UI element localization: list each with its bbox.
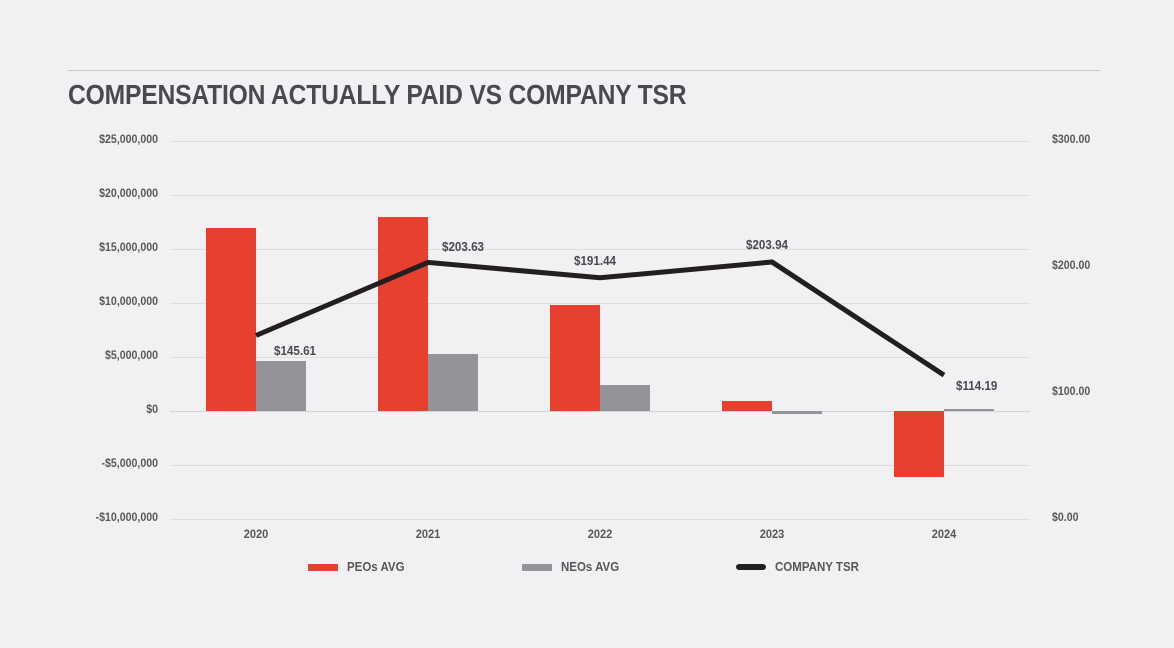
tsr-value-label: $203.94 xyxy=(746,238,788,252)
title-divider xyxy=(68,70,1100,71)
x-axis-tick-label: 2024 xyxy=(889,527,999,541)
gridline xyxy=(170,519,1030,520)
bar-peo-2020 xyxy=(206,228,256,411)
gridline xyxy=(170,303,1030,304)
y-axis-tick-label: $0 xyxy=(57,404,158,416)
bar-neo-2021 xyxy=(428,354,478,411)
gridline xyxy=(170,249,1030,250)
legend-line-icon xyxy=(736,564,766,570)
x-axis-tick-label: 2020 xyxy=(201,527,311,541)
legend-label: NEOs AVG xyxy=(561,560,619,574)
y-axis-tick-label: $25,000,000 xyxy=(57,134,158,146)
bar-neo-2020 xyxy=(256,361,306,411)
bar-peo-2021 xyxy=(378,217,428,411)
bar-peo-2024 xyxy=(894,411,944,477)
legend-item-0[interactable]: PEOs AVG xyxy=(308,560,410,574)
gridline xyxy=(170,141,1030,142)
y-axis-tick-label: $10,000,000 xyxy=(57,296,158,308)
bar-neo-2022 xyxy=(600,385,650,411)
y-axis-tick-label: $20,000,000 xyxy=(57,188,158,200)
bar-peo-2023 xyxy=(722,401,772,411)
legend-label: COMPANY TSR xyxy=(775,560,859,574)
tsr-value-label: $145.61 xyxy=(274,344,316,358)
y-axis-tick-label: -$10,000,000 xyxy=(57,512,158,524)
tsr-value-label: $203.63 xyxy=(442,240,484,254)
tsr-value-label: $114.19 xyxy=(956,379,997,393)
y2-axis-tick-label: $0.00 xyxy=(1052,512,1078,524)
legend-item-2[interactable]: COMPANY TSR xyxy=(736,560,866,574)
x-axis-tick-label: 2023 xyxy=(717,527,827,541)
legend-color-icon xyxy=(522,564,552,571)
y2-axis-tick-label: $300.00 xyxy=(1052,134,1090,146)
bar-neo-2023 xyxy=(772,411,822,414)
bar-peo-2022 xyxy=(550,305,600,411)
y2-axis-tick-label: $200.00 xyxy=(1052,260,1090,272)
legend: PEOs AVGNEOs AVGCOMPANY TSR xyxy=(0,560,1174,574)
legend-label: PEOs AVG xyxy=(347,560,405,574)
legend-color-icon xyxy=(308,564,338,571)
y2-axis-tick-label: $100.00 xyxy=(1052,386,1090,398)
tsr-value-label: $191.44 xyxy=(574,254,616,268)
x-axis-tick-label: 2021 xyxy=(373,527,483,541)
y-axis-tick-label: -$5,000,000 xyxy=(57,458,158,470)
bar-neo-2024 xyxy=(944,409,994,411)
chart-page: COMPENSATION ACTUALLY PAID VS COMPANY TS… xyxy=(0,0,1174,648)
x-axis-tick-label: 2022 xyxy=(545,527,655,541)
legend-item-1[interactable]: NEOs AVG xyxy=(522,560,624,574)
y-axis-tick-label: $15,000,000 xyxy=(57,242,158,254)
page-title: COMPENSATION ACTUALLY PAID VS COMPANY TS… xyxy=(68,79,686,111)
gridline xyxy=(170,195,1030,196)
y-axis-tick-label: $5,000,000 xyxy=(57,350,158,362)
